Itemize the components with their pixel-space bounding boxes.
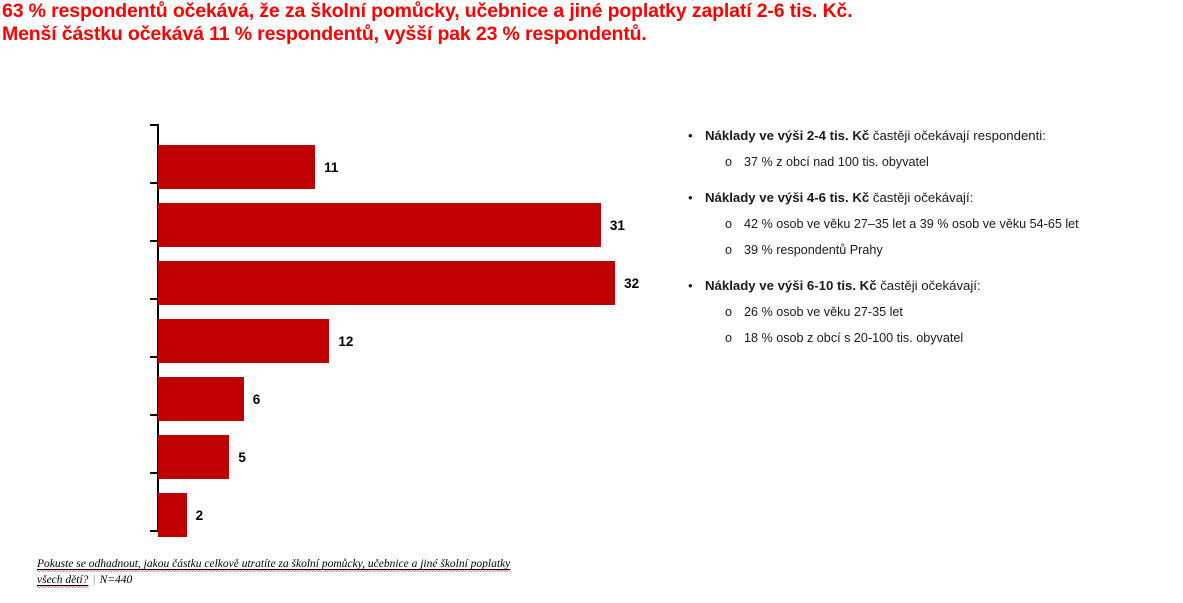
insight-sub-item: o42 % osob ve věku 27–35 let a 39 % osob… <box>683 214 1183 234</box>
page-title-line-1: 63 % respondentů očekává, že za školní p… <box>2 0 1183 23</box>
insight-heading-bold: Náklady ve výši 6-10 tis. Kč <box>705 278 877 293</box>
insight-sub-text: 42 % osob ve věku 27–35 let a 39 % osob … <box>744 217 1079 231</box>
bullet-circle-icon: o <box>725 240 732 260</box>
bar-row: 2 <box>158 486 203 544</box>
bar-rect <box>158 319 329 363</box>
insight-heading: •Náklady ve výši 2-4 tis. Kč častěji oče… <box>683 126 1183 146</box>
bullet-dot-icon: • <box>688 126 693 146</box>
axis-tick <box>150 240 158 242</box>
bar-value-label: 6 <box>253 392 261 407</box>
bar-value-label: 11 <box>324 160 338 175</box>
bullet-circle-icon: o <box>725 302 732 322</box>
footnote-separator: | <box>88 574 99 586</box>
page-title: 63 % respondentů očekává, že za školní p… <box>2 0 1183 46</box>
axis-tick <box>150 414 158 416</box>
bar-value-label: 32 <box>624 276 639 291</box>
bullet-circle-icon: o <box>725 328 732 348</box>
bar-value-label: 5 <box>238 450 246 465</box>
insight-sub-text: 18 % osob z obcí s 20-100 tis. obyvatel <box>744 331 963 345</box>
footnote-question-line2: všech dětí? <box>37 574 88 588</box>
insight-sub-text: 26 % osob ve věku 27-35 let <box>744 305 903 319</box>
insight-group: •Náklady ve výši 4-6 tis. Kč častěji oče… <box>683 188 1183 260</box>
bar-row: 6 <box>158 370 260 428</box>
bar-rect <box>158 377 244 421</box>
bar-rect <box>158 203 601 247</box>
bar-rect <box>158 493 187 537</box>
axis-tick <box>150 472 158 474</box>
insight-heading-rest: častěji očekávají: <box>877 278 981 293</box>
bullet-dot-icon: • <box>688 276 693 296</box>
bar-row: 12 <box>158 312 353 370</box>
insight-heading-bold: Náklady ve výši 2-4 tis. Kč <box>705 128 869 143</box>
page-title-line-2: Menší částku očekává 11 % respondentů, v… <box>2 23 1183 46</box>
bullet-circle-icon: o <box>725 152 732 172</box>
insight-sub-item: o39 % respondentů Prahy <box>683 240 1183 260</box>
bar-chart: 11313212652 Do 2 000 Kč2 001 až 4 000Kč4… <box>0 110 670 540</box>
bullet-circle-icon: o <box>725 214 732 234</box>
bar-value-label: 31 <box>610 218 625 233</box>
bar-value-label: 12 <box>338 334 353 349</box>
bar-row: 5 <box>158 428 246 486</box>
insight-sub-item: o18 % osob z obcí s 20-100 tis. obyvatel <box>683 328 1183 348</box>
axis-tick <box>150 298 158 300</box>
insight-sub-item: o26 % osob ve věku 27-35 let <box>683 302 1183 322</box>
insights-list: •Náklady ve výši 2-4 tis. Kč častěji oče… <box>683 126 1183 364</box>
bar-rect <box>158 145 315 189</box>
insight-group: •Náklady ve výši 6-10 tis. Kč častěji oč… <box>683 276 1183 348</box>
insight-sub-item: o37 % z obcí nad 100 tis. obyvatel <box>683 152 1183 172</box>
insight-sub-text: 37 % z obcí nad 100 tis. obyvatel <box>744 155 929 169</box>
bar-row: 32 <box>158 254 639 312</box>
bullet-dot-icon: • <box>688 188 693 208</box>
bar-row: 11 <box>158 138 338 196</box>
bar-row: 31 <box>158 196 625 254</box>
axis-tick <box>150 182 158 184</box>
insight-heading: •Náklady ve výši 6-10 tis. Kč častěji oč… <box>683 276 1183 296</box>
insight-group: •Náklady ve výši 2-4 tis. Kč častěji oče… <box>683 126 1183 172</box>
bar-rect <box>158 261 615 305</box>
chart-footnote: Pokuste se odhadnout, jakou částku celko… <box>37 556 657 588</box>
insight-sub-text: 39 % respondentů Prahy <box>744 243 883 257</box>
insight-heading: •Náklady ve výši 4-6 tis. Kč častěji oče… <box>683 188 1183 208</box>
axis-tick <box>150 530 158 532</box>
footnote-sample-size: N=440 <box>100 574 133 586</box>
insight-heading-rest: častěji očekávají: <box>869 190 973 205</box>
axis-tick <box>150 124 158 126</box>
bar-rect <box>158 435 229 479</box>
axis-tick <box>150 356 158 358</box>
insight-heading-bold: Náklady ve výši 4-6 tis. Kč <box>705 190 869 205</box>
bar-value-label: 2 <box>196 508 204 523</box>
footnote-question-line1: Pokuste se odhadnout, jakou částku celko… <box>37 558 510 572</box>
chart-plot-area: 11313212652 <box>158 124 658 530</box>
insight-heading-rest: častěji očekávají respondenti: <box>869 128 1046 143</box>
